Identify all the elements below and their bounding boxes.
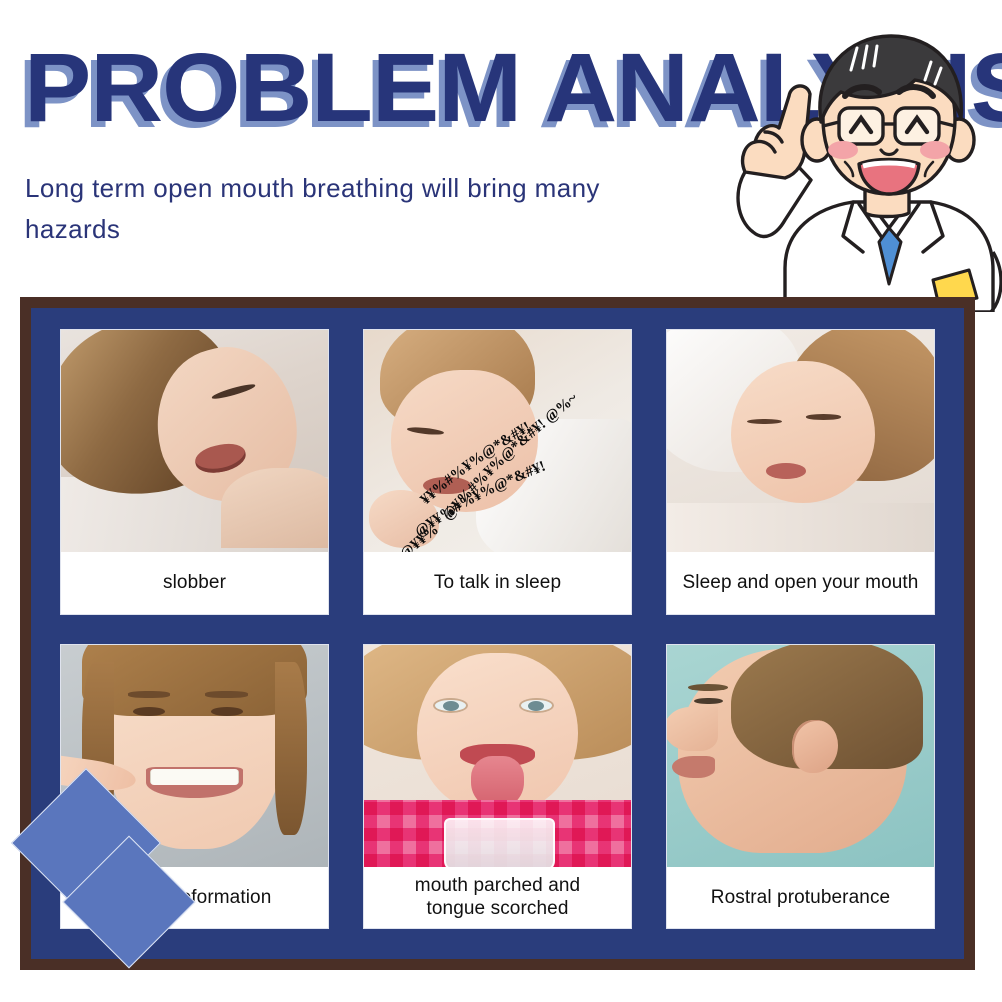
board-inner-panel: slobber	[31, 308, 964, 959]
card-photo-talk-in-sleep: @¥%#%¥%@*&#¥! @%~ ¥¥%#%¥%@*&#¥! @¥¥%#%¥%…	[364, 330, 631, 552]
card-caption-line-1: mouth parched and	[415, 875, 580, 896]
card-caption-rostral-protuberance: Rostral protuberance	[667, 867, 934, 929]
card-caption-talk-in-sleep: To talk in sleep	[364, 552, 631, 614]
hazard-card-mouth-parched[interactable]: mouth parched and tongue scorched	[363, 644, 632, 930]
hazard-card-rostral-protuberance[interactable]: Rostral protuberance	[666, 644, 935, 930]
hazard-card-talk-in-sleep[interactable]: @¥%#%¥%@*&#¥! @%~ ¥¥%#%¥%@*&#¥! @¥¥%#%¥%…	[363, 329, 632, 615]
page-subtitle: Long term open mouth breathing will brin…	[25, 168, 625, 250]
card-caption-slobber: slobber	[61, 552, 328, 614]
doctor-mascot-icon	[693, 22, 1002, 312]
card-caption-mouth-parched: mouth parched and tongue scorched	[364, 867, 631, 929]
hazard-card-slobber[interactable]: slobber	[60, 329, 329, 615]
hazard-card-grid: slobber	[60, 329, 935, 929]
card-photo-sleep-open-mouth	[667, 330, 934, 552]
hazard-card-sleep-open-mouth[interactable]: Sleep and open your mouth	[666, 329, 935, 615]
card-photo-slobber	[61, 330, 328, 552]
header: PROBLEM ANALYSIS PROBLEM ANALYSIS Long t…	[0, 0, 1002, 300]
card-photo-rostral-protuberance	[667, 645, 934, 867]
card-photo-mouth-parched	[364, 645, 631, 867]
card-caption-line-2: tongue scorched	[427, 898, 569, 919]
card-caption-sleep-open-mouth: Sleep and open your mouth	[667, 552, 934, 614]
